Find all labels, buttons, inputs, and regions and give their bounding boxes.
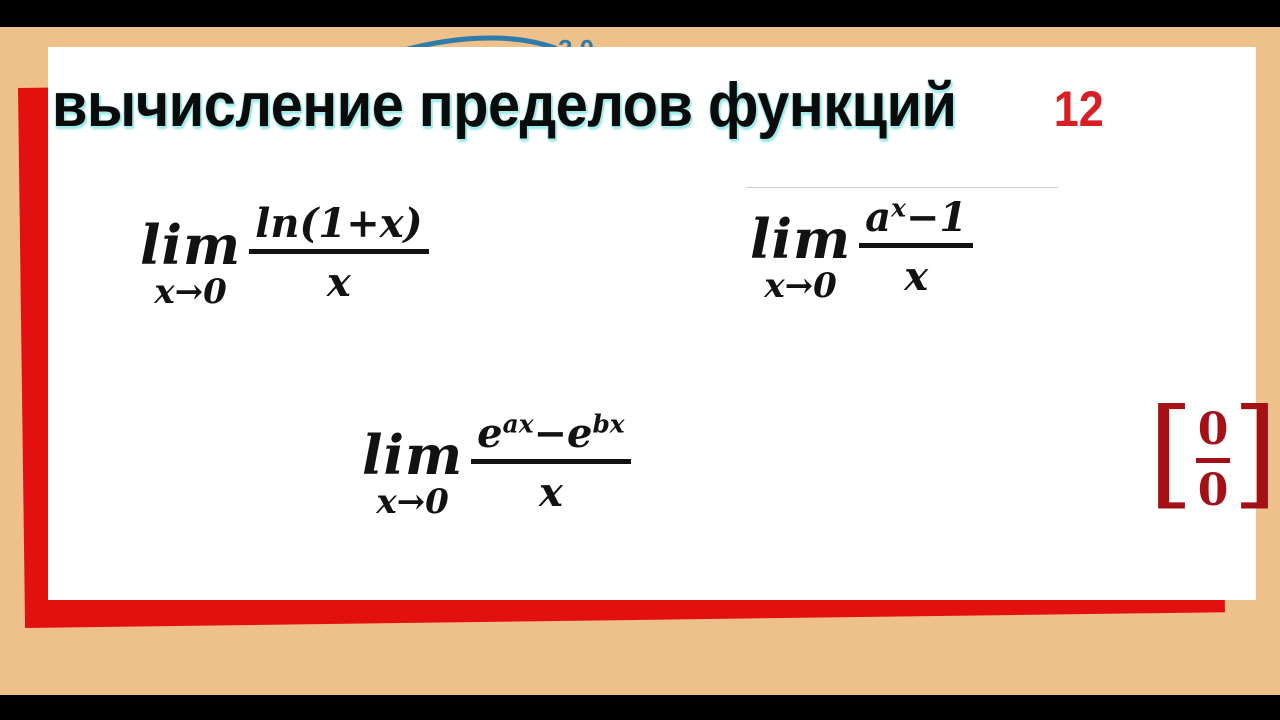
fraction-denominator: x <box>327 254 351 303</box>
faint-divider-rule <box>746 187 1058 188</box>
fraction-denominator: x <box>904 248 928 297</box>
bottom-letterbox-bar <box>0 695 1280 720</box>
base-e-first: e <box>477 410 502 457</box>
indeterminate-form-note: [ 0 0 ] <box>1148 398 1278 523</box>
exponent-ax: ax <box>503 410 534 439</box>
limit-operator: lim x→0 <box>140 218 241 309</box>
fraction: ln(1+x) x <box>249 204 428 303</box>
base-e-second: e <box>567 410 592 457</box>
base-a: a <box>865 194 891 241</box>
exponent-bx: bx <box>592 410 624 439</box>
fraction-denominator: x <box>539 464 563 513</box>
limit-subscript: x→0 <box>154 275 226 309</box>
formula-limit-exponential-a: lim x→0 ax−1 x <box>750 212 973 303</box>
slide-canvas: 2.0 вычисление пределов функций 12 lim x… <box>0 0 1280 720</box>
minus-one: −1 <box>906 194 967 241</box>
minus-operator: − <box>533 410 567 457</box>
formula-limit-exponential-difference: lim x→0 eax−ebx x <box>362 428 631 519</box>
limit-operator: lim x→0 <box>750 212 851 303</box>
formula-limit-ln: lim x→0 ln(1+x) x <box>140 218 429 309</box>
limit-subscript: x→0 <box>764 269 836 303</box>
fraction: ax−1 x <box>859 198 973 297</box>
numerator-zero: 0 <box>1198 408 1229 452</box>
page-title: вычисление пределов функций <box>52 75 957 137</box>
limit-word: lim <box>140 218 241 272</box>
slide-title-row: вычисление пределов функций 12 <box>52 75 1106 137</box>
left-bracket: [ <box>1148 398 1194 523</box>
fraction-numerator: ax−1 <box>859 198 973 243</box>
fraction: eax−ebx x <box>471 414 630 513</box>
limit-subscript: x→0 <box>376 485 448 519</box>
zero-over-zero: 0 0 <box>1194 398 1232 523</box>
limit-operator: lim x→0 <box>362 428 463 519</box>
exponent-x: x <box>891 194 906 223</box>
slide-number-badge: 12 <box>1053 84 1103 134</box>
right-bracket: ] <box>1232 398 1278 523</box>
fraction-numerator: eax−ebx <box>471 414 630 459</box>
indeterminate-fraction-bar <box>1196 458 1230 463</box>
fraction-numerator: ln(1+x) <box>249 204 428 249</box>
limit-word: lim <box>750 212 851 266</box>
denominator-zero: 0 <box>1198 469 1229 513</box>
limit-word: lim <box>362 428 463 482</box>
